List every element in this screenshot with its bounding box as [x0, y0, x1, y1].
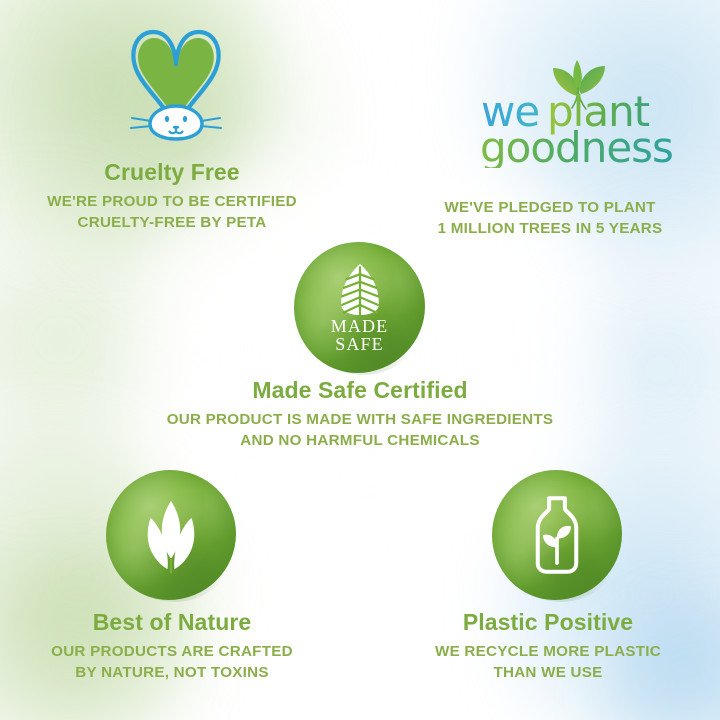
- wpg-line1-word2: plant: [675, 58, 676, 59]
- chevron-vein-leaf-icon: [337, 262, 383, 317]
- svg-text:goodness: goodness: [480, 123, 673, 168]
- claim-description-line: THAN WE USE: [376, 663, 720, 684]
- wpg-line2: goodness: [675, 58, 676, 59]
- bottle-sprout-badge: [492, 470, 622, 600]
- claim-we-plant-goodness: WE'VE PLEDGED TO PLANT 1 MILLION TREES I…: [380, 198, 720, 240]
- claim-description-line: OUR PRODUCTS ARE CRAFTED: [0, 642, 344, 663]
- claim-description-line: CRUELTY-FREE BY PETA: [0, 213, 344, 234]
- claim-description: WE'RE PROUD TO BE CERTIFIED CRUELTY-FREE…: [0, 192, 344, 234]
- claim-description-line: BY NATURE, NOT TOXINS: [0, 663, 344, 684]
- three-leaves-icon: [130, 494, 212, 576]
- wpg-line1-word1: we: [675, 58, 676, 59]
- claim-description: OUR PRODUCTS ARE CRAFTED BY NATURE, NOT …: [0, 642, 344, 684]
- eco-claims-poster: we plant goodness we plant goodness: [0, 0, 720, 720]
- bottle-sprout-icon-wrap: [492, 470, 622, 600]
- claim-description-line: WE RECYCLE MORE PLASTIC: [376, 642, 720, 663]
- claim-best-of-nature: Best of Nature OUR PRODUCTS ARE CRAFTED …: [0, 610, 344, 684]
- claim-description: OUR PRODUCT IS MADE WITH SAFE INGREDIENT…: [60, 410, 660, 452]
- claim-description: WE RECYCLE MORE PLASTIC THAN WE USE: [376, 642, 720, 684]
- claim-description-line: OUR PRODUCT IS MADE WITH SAFE INGREDIENT…: [60, 410, 660, 431]
- claim-title: Made Safe Certified: [60, 378, 660, 403]
- made-safe-wordmark: MADE SAFE: [331, 318, 388, 353]
- claim-made-safe: Made Safe Certified OUR PRODUCT IS MADE …: [60, 378, 660, 452]
- claim-description-line: WE'VE PLEDGED TO PLANT: [380, 198, 720, 219]
- peta-cruelty-free-bunny-logo: [118, 20, 234, 142]
- we-plant-goodness-logo: we plant goodness we plant goodness: [479, 58, 675, 168]
- claim-description-line: 1 MILLION TREES IN 5 YEARS: [380, 219, 720, 240]
- three-leaves-icon-wrap: [106, 470, 236, 600]
- claim-title: Best of Nature: [0, 610, 344, 635]
- bottle-sprout-icon: [522, 493, 592, 577]
- claim-title: Plastic Positive: [376, 610, 720, 635]
- made-safe-leaf-badge: MADE SAFE: [294, 242, 425, 373]
- claim-plastic-positive: Plastic Positive WE RECYCLE MORE PLASTIC…: [376, 610, 720, 684]
- claim-description-line: WE'RE PROUD TO BE CERTIFIED: [0, 192, 344, 213]
- claim-description-line: AND NO HARMFUL CHEMICALS: [60, 431, 660, 452]
- made-safe-line-2: SAFE: [331, 336, 388, 354]
- claim-description: WE'VE PLEDGED TO PLANT 1 MILLION TREES I…: [380, 198, 720, 240]
- made-safe-line-1: MADE: [331, 318, 388, 336]
- three-leaves-badge: [106, 470, 236, 600]
- claim-cruelty-free: Cruelty Free WE'RE PROUD TO BE CERTIFIED…: [0, 160, 344, 234]
- made-safe-seal: MADE SAFE: [294, 242, 425, 373]
- claim-title: Cruelty Free: [0, 160, 344, 185]
